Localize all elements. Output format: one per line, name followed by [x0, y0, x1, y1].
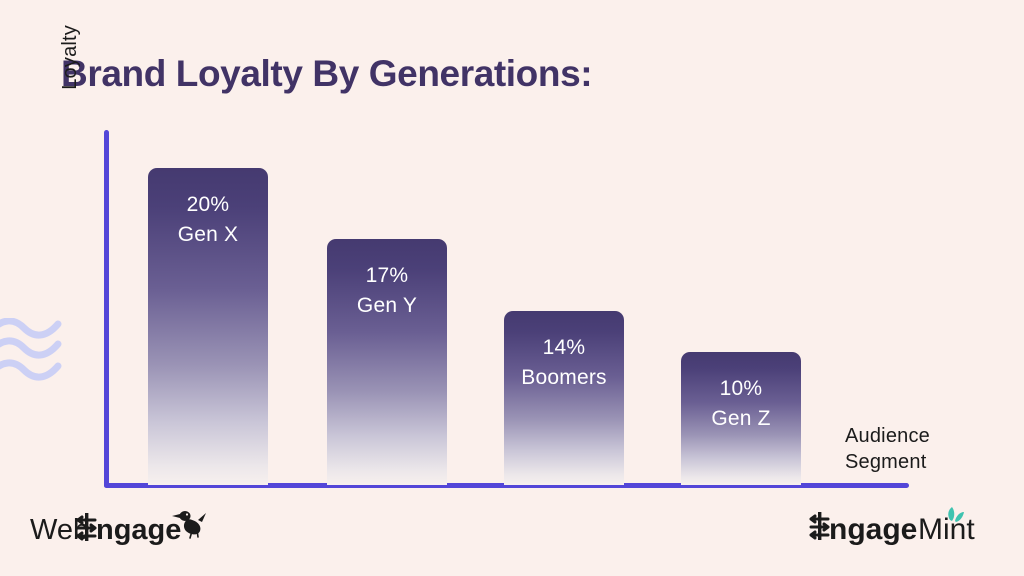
engagemint-logo: ngage Mint: [808, 506, 996, 554]
bar-gen-x[interactable]: 20% Gen X: [148, 168, 268, 485]
bar-value-boomers: 14%: [504, 333, 624, 363]
x-axis-label-line1: Audience: [845, 423, 930, 449]
bar-category-gen-x: Gen X: [148, 220, 268, 250]
engage-e-icon: [811, 512, 828, 540]
bar-label-gen-y: 17% Gen Y: [327, 261, 447, 321]
bar-value-gen-x: 20%: [148, 190, 268, 220]
y-axis-line: [104, 130, 109, 488]
webengage-logo: Web ngage: [30, 507, 210, 555]
bar-boomers[interactable]: 14% Boomers: [504, 311, 624, 485]
bar-label-gen-x: 20% Gen X: [148, 190, 268, 250]
bar-category-gen-y: Gen Y: [327, 291, 447, 321]
bar-category-boomers: Boomers: [504, 363, 624, 393]
bar-category-gen-z: Gen Z: [681, 404, 801, 434]
engage-e-icon: [78, 513, 95, 541]
x-axis-label: Audience Segment: [845, 423, 930, 475]
bar-gen-z[interactable]: 10% Gen Z: [681, 352, 801, 485]
y-axis-label: Loyalty: [59, 25, 82, 135]
webengage-logo-bold-text: ngage: [96, 514, 181, 546]
engagemint-logo-light-text: Mint: [918, 513, 975, 546]
bar-gen-y[interactable]: 17% Gen Y: [327, 239, 447, 485]
bar-value-gen-y: 17%: [327, 261, 447, 291]
bar-value-gen-z: 10%: [681, 374, 801, 404]
bar-label-boomers: 14% Boomers: [504, 333, 624, 393]
engagemint-logo-bold-text: ngage: [829, 513, 917, 546]
bar-chart: Loyalty Audience Segment 20% Gen X 17% G…: [0, 0, 1024, 576]
bar-label-gen-z: 10% Gen Z: [681, 374, 801, 434]
x-axis-label-line2: Segment: [845, 449, 930, 475]
